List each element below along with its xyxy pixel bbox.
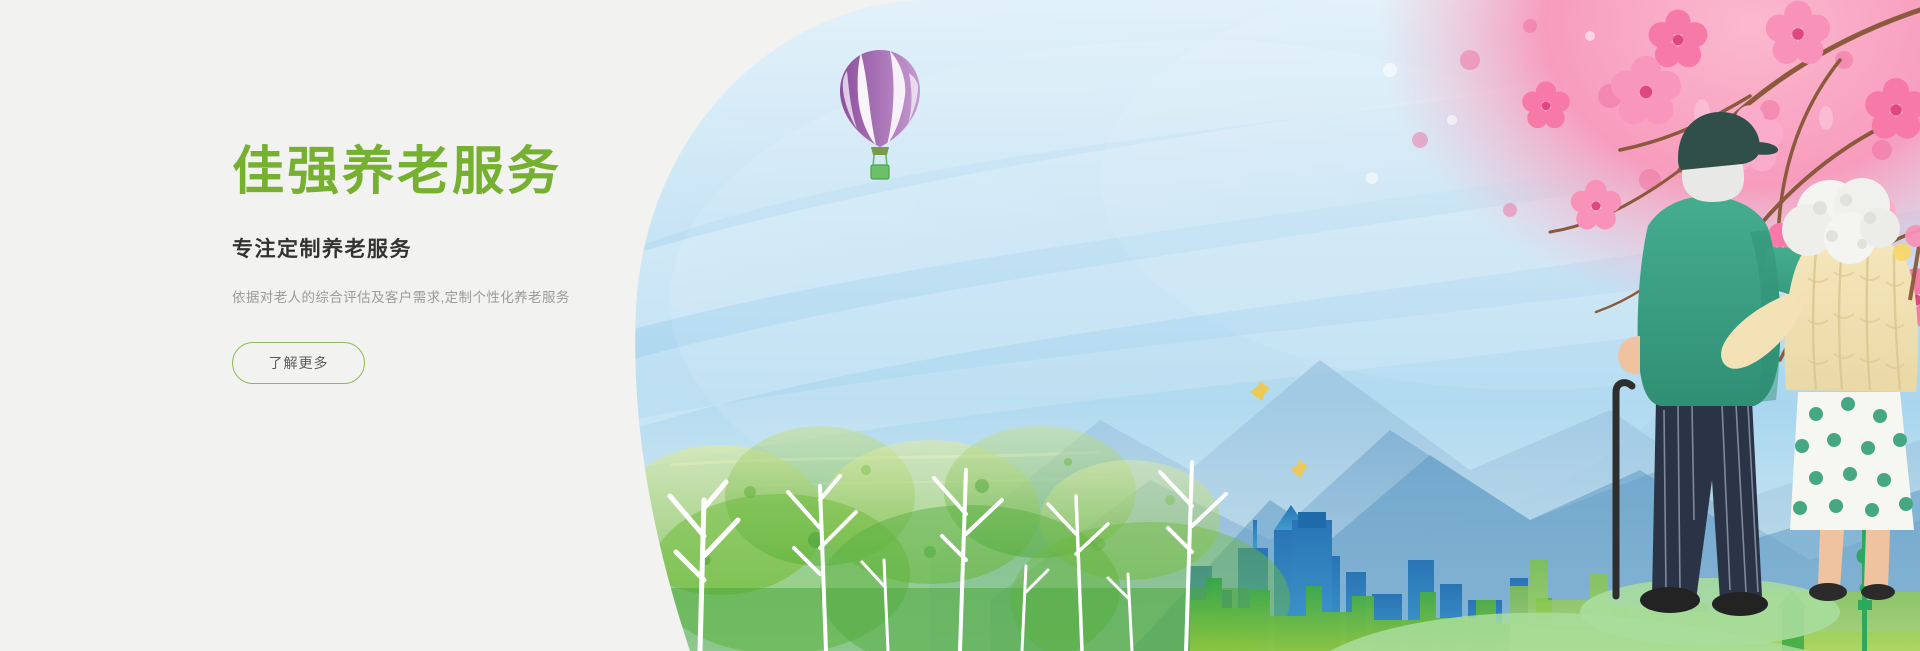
banner-description: 依据对老人的综合评估及客户需求,定制个性化养老服务	[232, 286, 652, 306]
banner-subheading: 专注定制养老服务	[232, 233, 652, 263]
banner-artwork	[630, 0, 1920, 651]
page-title: 佳强养老服务	[232, 143, 652, 203]
man-sweater	[1638, 196, 1781, 406]
woman-skirt	[1790, 392, 1914, 530]
banner-copy: 佳强养老服务 专注定制养老服务 依据对老人的综合评估及客户需求,定制个性化养老服…	[232, 143, 652, 384]
hero-banner: 佳强养老服务 专注定制养老服务 依据对老人的综合评估及客户需求,定制个性化养老服…	[0, 0, 1920, 651]
learn-more-button[interactable]: 了解更多	[232, 342, 365, 384]
